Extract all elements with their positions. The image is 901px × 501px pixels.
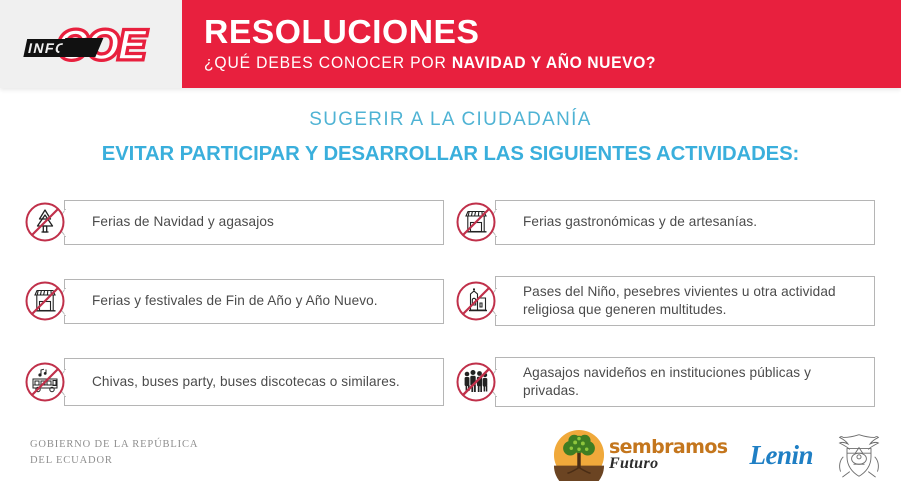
footer-logos: sembramos Futuro Lenin [553,429,883,481]
no-christmas-tree-icon [24,201,66,243]
callout-box: Chivas, buses party, buses discotecas o … [64,358,444,406]
activity-text: Agasajos navideños en instituciones públ… [523,364,862,400]
callout-box: Ferias de Navidad y agasajos [64,200,444,245]
page-title: RESOLUCIONES [204,15,901,50]
list-item: Ferias gastronómicas y de artesanías. [455,183,875,261]
government-line-1: GOBIERNO DE LA REPÚBLICA [30,437,198,453]
activity-text: Pases del Niño, pesebres vivientes u otr… [523,283,862,319]
callout-box: Pases del Niño, pesebres vivientes u otr… [495,276,875,326]
activities-row: Ferias de Navidad y agasajos [0,183,901,261]
activities-row: Ferias y festivales de Fin de Año y Año … [0,262,901,340]
page-header: COE COE COE INFO RESOLUCIONES ¿QUÉ DEBES… [0,0,901,88]
lenin-logo: Lenin [749,440,813,471]
list-item: Pases del Niño, pesebres vivientes u otr… [455,262,875,340]
government-line-2: DEL ECUADOR [30,453,198,469]
logo-zone: COE COE COE INFO [0,0,182,88]
activity-text: Ferias y festivales de Fin de Año y Año … [92,292,378,310]
no-crowd-icon [455,361,497,403]
list-item: Chivas, buses party, buses discotecas o … [24,343,444,421]
no-market-stall-icon [455,201,497,243]
lenin-wordmark: Lenin [749,440,813,471]
page-footer: GOBIERNO DE LA REPÚBLICA DEL ECUADOR [0,423,901,501]
ecuador-coat-of-arms-logo [835,429,883,481]
header-title-zone: RESOLUCIONES ¿QUÉ DEBES CONOCER POR NAVI… [182,0,901,88]
sembramos-futuro-logo: sembramos Futuro [553,429,728,481]
list-item: Ferias y festivales de Fin de Año y Año … [24,262,444,340]
government-label: GOBIERNO DE LA REPÚBLICA DEL ECUADOR [30,437,198,470]
sembramos-futuro-wordmark: sembramos Futuro [609,438,728,472]
activities-grid: Ferias de Navidad y agasajos [0,183,901,423]
no-market-stall-icon [24,280,66,322]
infocoe-logo: COE COE COE INFO [21,21,161,67]
activity-text: Chivas, buses party, buses discotecas o … [92,373,400,391]
list-item: Ferias de Navidad y agasajos [24,183,444,261]
headings-block: SUGERIR A LA CIUDADANÍA EVITAR PARTICIPA… [0,108,901,166]
list-item: Agasajos navideños en instituciones públ… [455,343,875,421]
heading-evitar: EVITAR PARTICIPAR Y DESARROLLAR LAS SIGU… [5,142,897,166]
no-party-bus-icon [24,361,66,403]
callout-box: Ferias y festivales de Fin de Año y Año … [64,279,444,324]
activity-text: Ferias gastronómicas y de artesanías. [523,213,757,231]
page-subtitle: ¿QUÉ DEBES CONOCER POR NAVIDAD Y AÑO NUE… [204,54,866,73]
heading-sugerir: SUGERIR A LA CIUDADANÍA [14,108,888,131]
subtitle-prefix: ¿QUÉ DEBES CONOCER POR [204,54,452,72]
subtitle-emphasis: NAVIDAD Y AÑO NUEVO? [452,54,656,72]
no-church-icon [455,280,497,322]
callout-box: Agasajos navideños en instituciones públ… [495,357,875,407]
futuro-word: Futuro [609,456,728,472]
callout-box: Ferias gastronómicas y de artesanías. [495,200,875,245]
activities-row: Chivas, buses party, buses discotecas o … [0,343,901,421]
activity-text: Ferias de Navidad y agasajos [92,213,274,231]
